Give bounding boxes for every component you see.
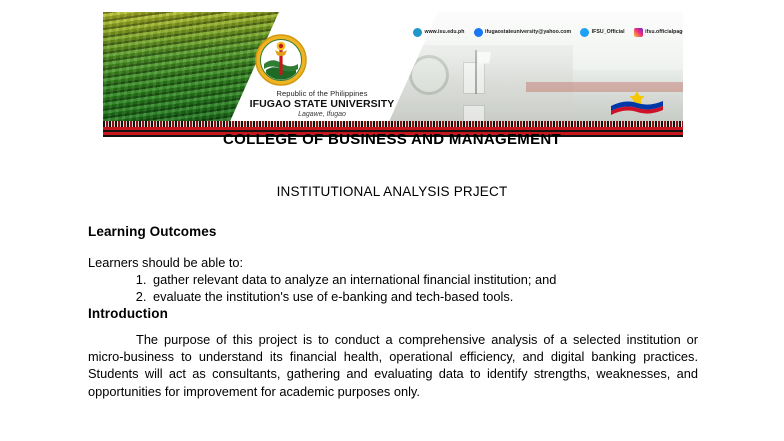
facebook-icon xyxy=(474,28,483,37)
list-item: gather relevant data to analyze an inter… xyxy=(150,272,698,289)
learning-outcomes-lead: Learners should be able to: xyxy=(88,255,698,270)
letterhead-banner: Republic of the Philippines IFUGAO STATE… xyxy=(103,12,683,137)
project-title: INSTITUTIONAL ANALYSIS PRJECT xyxy=(0,184,784,199)
campus-location: Lagawe, Ifugao xyxy=(206,111,438,118)
list-item: evaluate the institution's use of e-bank… xyxy=(150,289,698,306)
learning-outcomes-heading: Learning Outcomes xyxy=(88,224,698,239)
instagram-icon xyxy=(634,28,643,37)
website-icon xyxy=(413,28,422,37)
social-twitter-label: IFSU_Official xyxy=(592,29,625,35)
social-contact-strip: www.isu.edu.ph ifugaostateuniversity@yah… xyxy=(413,25,683,39)
twitter-icon xyxy=(580,28,589,37)
document-page: Republic of the Philippines IFUGAO STATE… xyxy=(0,0,784,441)
social-website[interactable]: www.isu.edu.ph xyxy=(413,28,465,37)
social-facebook[interactable]: ifugaostateuniversity@yahoo.com xyxy=(474,28,572,37)
university-name-block: Republic of the Philippines IFUGAO STATE… xyxy=(206,90,438,118)
introduction-paragraph: The purpose of this project is to conduc… xyxy=(88,331,698,400)
republic-line: Republic of the Philippines xyxy=(206,90,438,98)
social-instagram[interactable]: ifsu.officialpage xyxy=(634,28,683,37)
social-twitter[interactable]: IFSU_Official xyxy=(580,28,624,37)
social-website-label: www.isu.edu.ph xyxy=(425,29,465,35)
learning-outcomes-list: gather relevant data to analyze an inter… xyxy=(88,272,698,306)
college-heading: COLLEGE OF BUSINESS AND MANAGEMENT xyxy=(0,131,784,148)
university-name: IFUGAO STATE UNIVERSITY xyxy=(206,99,438,110)
document-body: Learning Outcomes Learners should be abl… xyxy=(88,224,698,400)
university-seal-icon xyxy=(255,34,307,86)
social-instagram-label: ifsu.officialpage xyxy=(645,29,683,35)
social-facebook-label: ifugaostateuniversity@yahoo.com xyxy=(485,29,571,35)
introduction-heading: Introduction xyxy=(88,306,698,321)
